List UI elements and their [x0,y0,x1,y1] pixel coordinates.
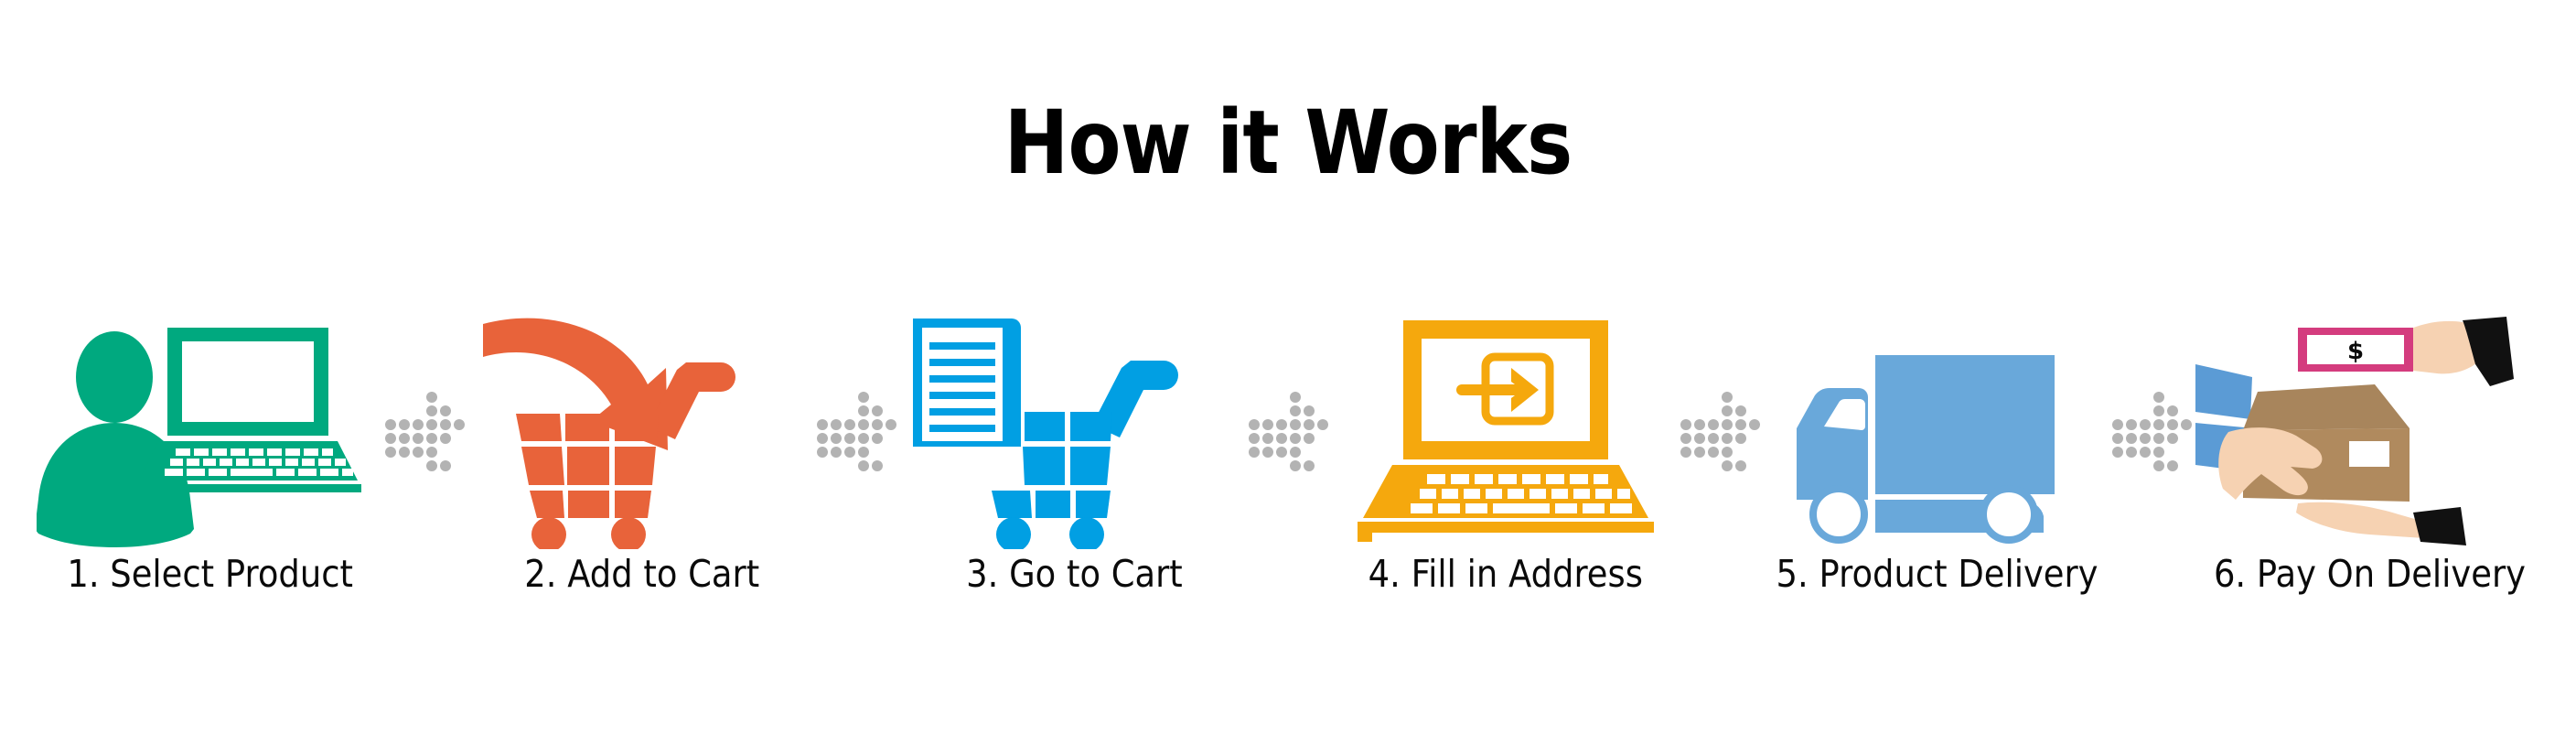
step-5-product-delivery[interactable]: 5. Product Delivery [1764,311,2111,594]
step-label: 6. Pay On Delivery [2213,555,2525,594]
step-label: 4. Fill in Address [1368,555,1643,594]
dotted-arrow-right-icon [384,311,468,549]
banknote: $ [2298,328,2413,372]
dotted-arrow-right-icon [2111,311,2195,549]
how-it-works-infographic: How it Works [0,0,2576,745]
steps-row: 1. Select Product [37,311,2543,641]
page-title: How it Works [155,99,2421,187]
step-3-go-to-cart[interactable]: 3. Go to Cart [900,311,1248,594]
step-2-add-to-cart[interactable]: 2. Add to Cart [468,311,816,594]
delivery-truck-icon [1764,311,2111,549]
hands-box-cash-icon: $ [2195,311,2543,549]
step-6-pay-on-delivery[interactable]: $ [2195,311,2543,594]
laptop-login-icon [1332,311,1680,549]
step-4-fill-in-address[interactable]: 4. Fill in Address [1332,311,1680,594]
step-label: 1. Select Product [68,555,354,594]
step-1-select-product[interactable]: 1. Select Product [37,311,384,594]
receiving-hand [2296,502,2466,545]
document-cart-icon [900,311,1248,549]
step-label: 2. Add to Cart [525,555,760,594]
dotted-arrow-right-icon [816,311,900,549]
arrow-into-cart-icon [468,311,816,549]
person-laptop-icon [37,311,384,549]
banknote-dollar-symbol: $ [2347,338,2364,365]
step-label: 3. Go to Cart [966,555,1183,594]
dotted-arrow-right-icon [1680,311,1764,549]
step-label: 5. Product Delivery [1776,555,2098,594]
dotted-arrow-right-icon [1248,311,1332,549]
